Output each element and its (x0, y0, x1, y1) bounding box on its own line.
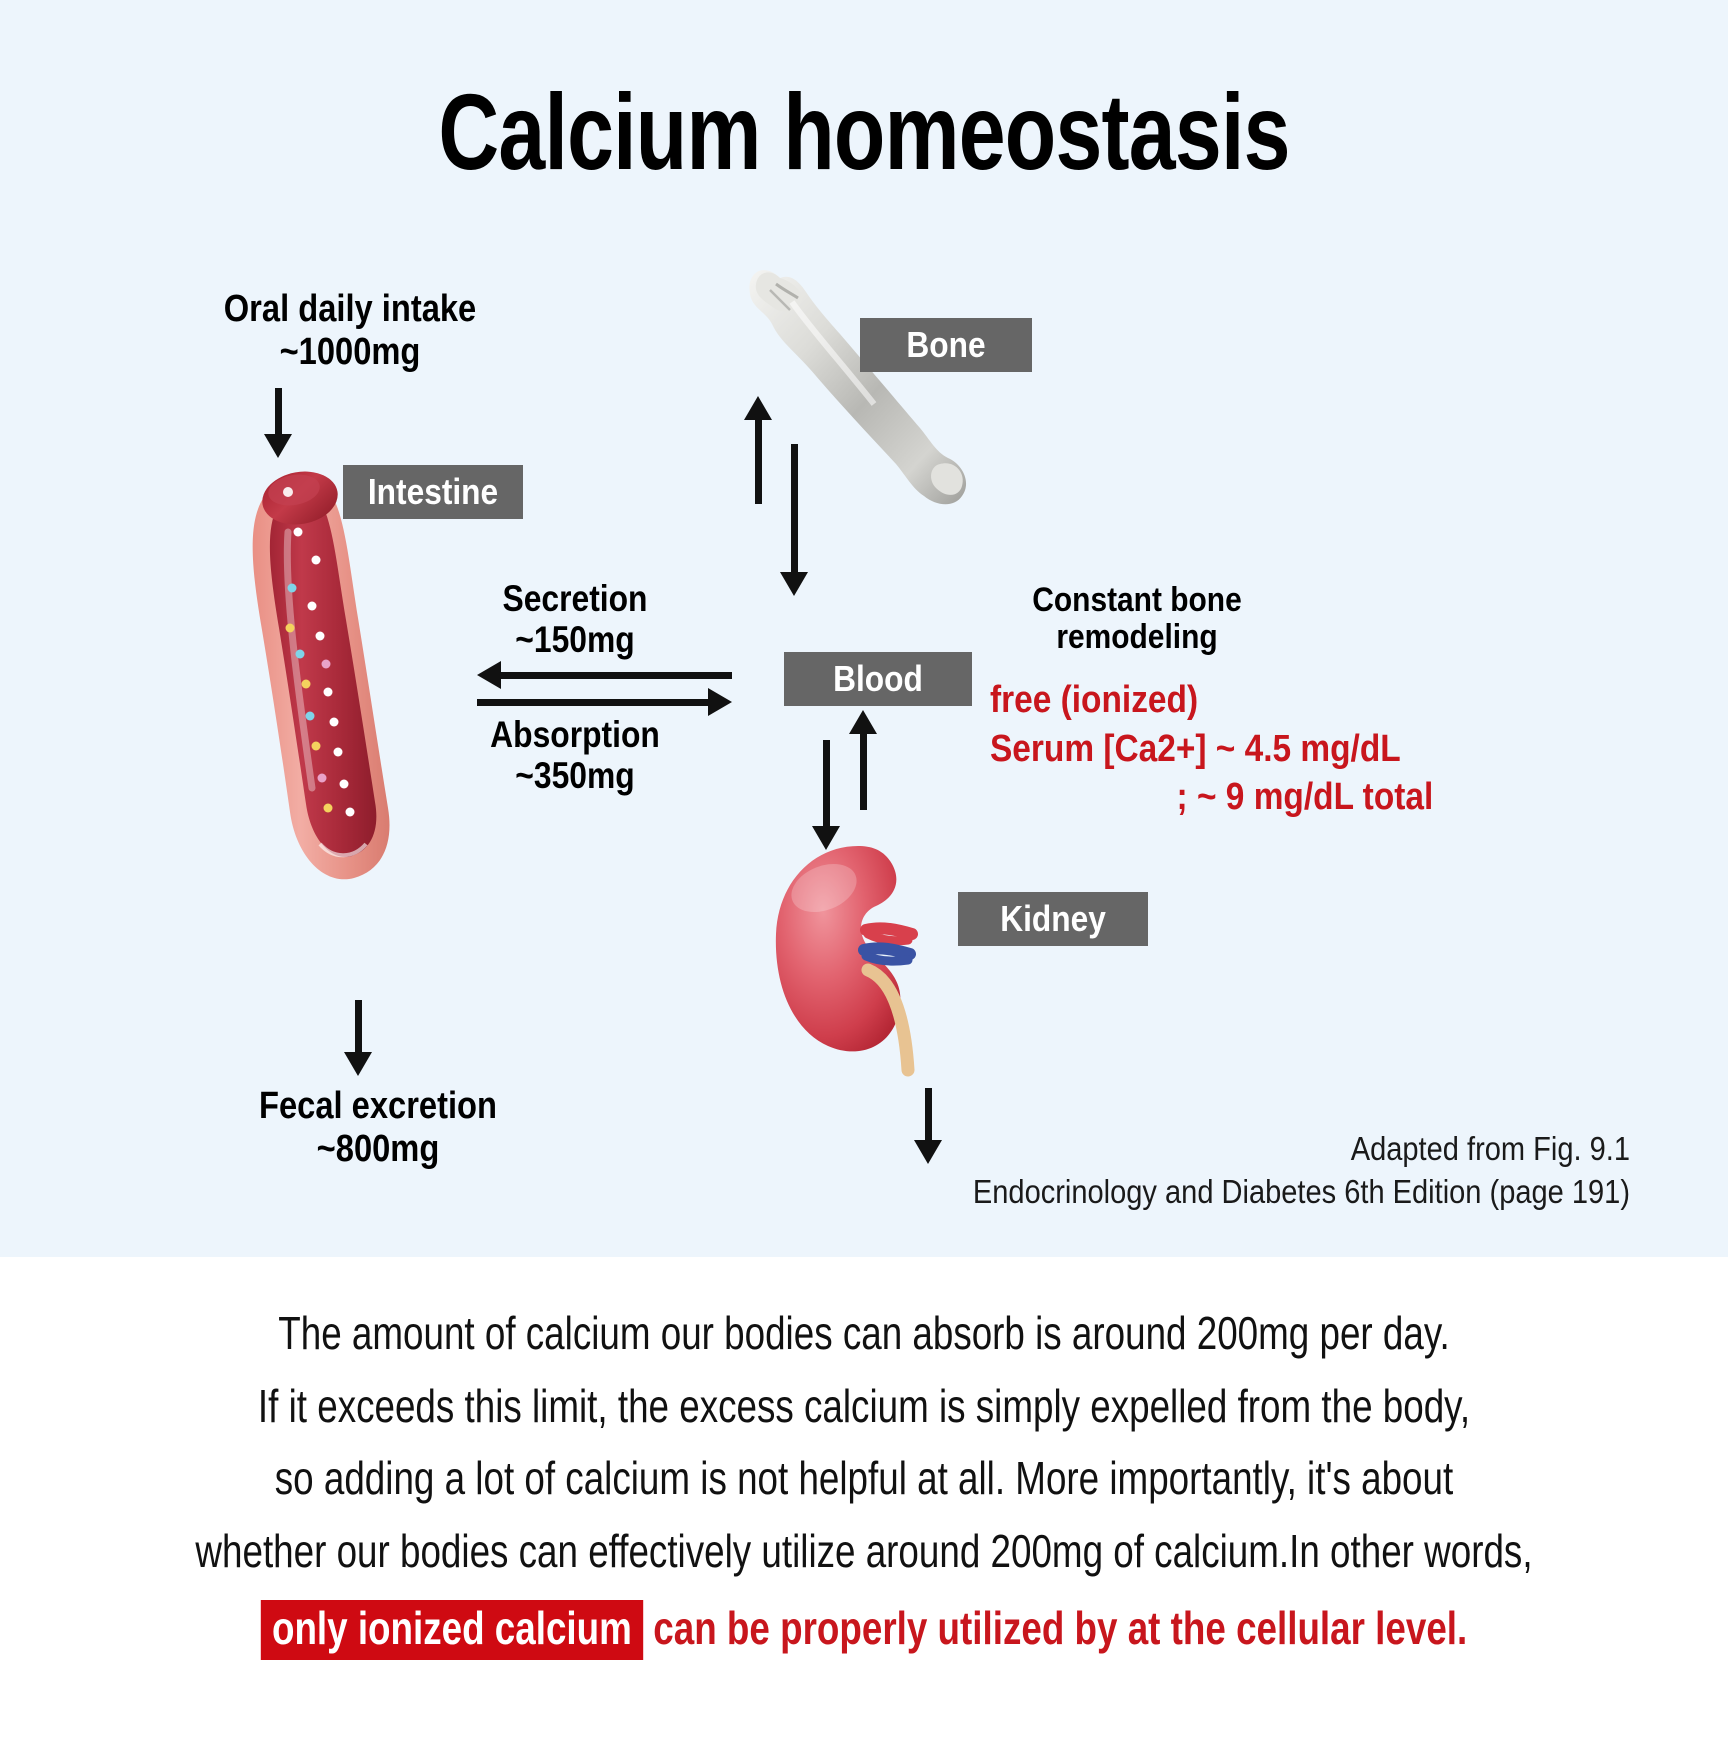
note-serum-calcium: free (ionized) Serum [Ca2+] ~ 4.5 mg/dL … (990, 676, 1550, 822)
arrow-blood-to-bone-up (740, 396, 776, 504)
arrow-fecal-excretion-down (340, 1000, 376, 1076)
caption-line-4: whether our bodies can effectively utili… (173, 1515, 1555, 1588)
chip-bone-label: Bone (906, 327, 985, 363)
caption-highlight: only ionized calcium (261, 1600, 643, 1660)
caption-line-1: The amount of calcium our bodies can abs… (173, 1297, 1555, 1370)
caption-highlight-tail: can be properly utilized by at the cellu… (653, 1602, 1467, 1654)
note-bone-remodeling: Constant bone remodeling (1005, 582, 1269, 657)
label-oral-intake: Oral daily intake ~1000mg (178, 288, 522, 373)
caption-line-5: only ionized calcium can be properly uti… (173, 1592, 1555, 1665)
arrow-absorption-right (477, 687, 732, 717)
label-absorption: Absorption ~350mg (446, 714, 704, 797)
arrow-blood-to-kidney-down (808, 740, 844, 850)
chip-blood-label: Blood (833, 661, 923, 697)
note-free-ionized: free (ionized) (990, 676, 1483, 725)
chip-intestine: Intestine (343, 465, 523, 519)
caption-section: The amount of calcium our bodies can abs… (0, 1257, 1728, 1740)
chip-blood: Blood (784, 652, 972, 706)
label-secretion: Secretion ~150mg (446, 578, 704, 661)
credit-line-2: Endocrinology and Diabetes 6th Edition (… (864, 1171, 1630, 1214)
chip-bone: Bone (860, 318, 1032, 372)
credit-line-1: Adapted from Fig. 9.1 (864, 1128, 1630, 1171)
arrow-secretion-left (477, 660, 732, 690)
arrow-bone-to-blood-down (776, 444, 812, 596)
chip-kidney-label: Kidney (1000, 901, 1106, 937)
caption-line-3: so adding a lot of calcium is not helpfu… (173, 1442, 1555, 1515)
page-title: Calcium homeostasis (190, 78, 1538, 186)
diagram-panel: Calcium homeostasis Oral daily intake ~1… (0, 0, 1728, 1257)
note-total-value: ; ~ 9 mg/dL total (990, 773, 1483, 822)
kidney-illustration (762, 838, 962, 1078)
caption-line-2: If it exceeds this limit, the excess cal… (173, 1370, 1555, 1443)
arrow-kidney-to-blood-up (845, 710, 881, 810)
note-serum-value: Serum [Ca2+] ~ 4.5 mg/dL (990, 725, 1483, 774)
calcium-homeostasis-infographic: Calcium homeostasis Oral daily intake ~1… (0, 0, 1728, 1740)
chip-intestine-label: Intestine (368, 474, 498, 510)
chip-kidney: Kidney (958, 892, 1148, 946)
source-credit: Adapted from Fig. 9.1 Endocrinology and … (864, 1128, 1630, 1214)
label-fecal-excretion: Fecal excretion ~800mg (215, 1085, 542, 1170)
